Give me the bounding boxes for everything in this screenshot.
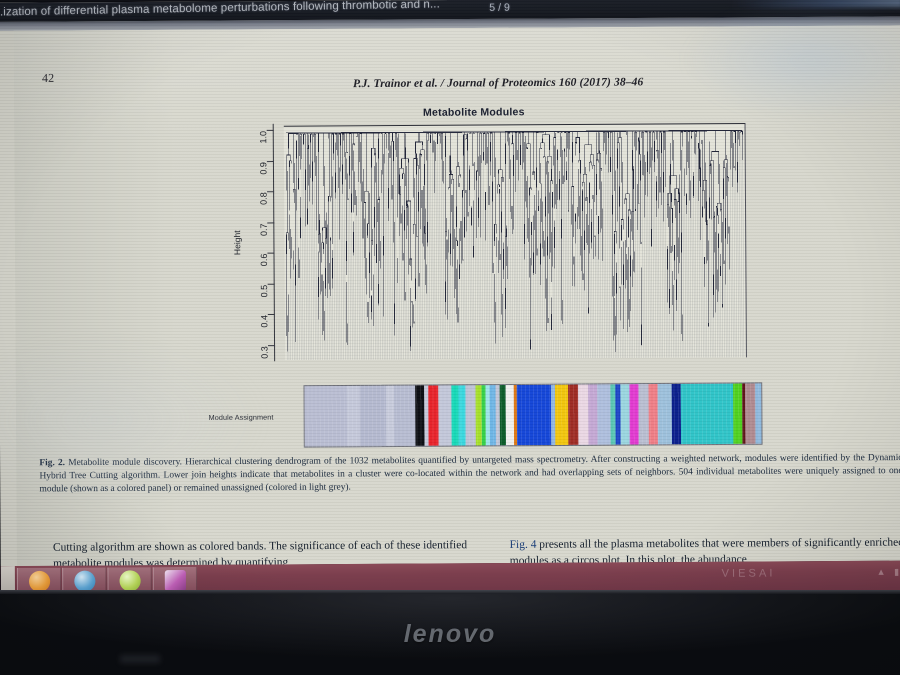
dendrogram-branches [286,130,744,354]
dendrogram-leaf-hairlines [286,133,744,360]
app-icon-1 [28,570,49,591]
y-tick-label: 1.0 [259,131,269,144]
chart-title: Metabolite Modules [423,106,525,119]
y-tick: 0.5 [268,283,275,284]
y-axis-title: Height [232,230,242,255]
screen-watermark: VIESAI [722,567,776,579]
y-tick: 1.0 [267,130,274,131]
y-tick-label: 0.9 [259,162,269,175]
module-band-segment [347,386,360,446]
dendrogram-svg [284,124,746,360]
module-assignment-band [303,382,762,447]
pdf-viewer-window: ...ization of differential plasma metabo… [0,0,900,566]
y-tick-label: 0.5 [260,285,270,298]
y-tick-label: 0.8 [259,192,269,205]
module-band-segment [597,384,611,444]
module-band-segment [555,385,568,445]
module-band-segment [428,385,439,445]
module-band-segment [755,383,761,443]
module-band-segment [649,384,658,444]
caption-text: Fig. 2. Metabolite module discovery. Hie… [39,453,900,495]
figure-2: Metabolite Modules Height 0.30.40.50.60.… [14,25,900,453]
pdf-page: 42 P.J. Trainor et al. / Journal of Prot… [14,25,900,566]
laptop-brand-logo: lenovo [404,620,497,649]
y-tick: 0.9 [267,161,274,162]
deck-reflection [120,655,160,663]
screen-glare [732,0,900,8]
page-surface: 42 P.J. Trainor et al. / Journal of Prot… [14,25,900,566]
module-band-segment [360,386,386,447]
module-band-segment [588,384,597,444]
module-band-segment [733,384,742,444]
screen-bottom-edge [0,590,900,594]
y-tick: 0.3 [268,345,275,346]
y-tick: 0.7 [267,222,274,223]
system-tray[interactable]: ▲ ▮ [877,567,900,578]
module-band-segment [438,385,451,445]
plot-area [284,123,747,360]
module-band-segment [304,386,347,447]
module-band-segment [394,386,415,446]
app-icon-4 [164,570,185,591]
body-column-left: Cutting algorithm are shown as colored b… [53,537,491,566]
page-indicator: 5 / 9 [489,2,510,14]
app-icon-3 [119,570,140,591]
y-tick-label: 0.7 [259,223,269,236]
module-band-segment [568,385,579,445]
figure-caption: Fig. 2. Metabolite module discovery. Hie… [39,452,900,497]
module-band-segment [680,384,734,445]
y-tick-label: 0.3 [260,346,270,359]
y-tick: 0.6 [267,253,274,254]
module-band-segment [505,385,514,445]
module-band-segment [516,385,551,446]
module-band-segment [629,384,638,444]
y-tick: 0.8 [267,191,274,192]
module-band-segment [578,384,588,444]
module-band-segment [415,385,425,445]
body-left-text: Cutting algorithm are shown as colored b… [53,539,467,566]
app-icon-2 [74,570,95,591]
module-band-segment [638,384,649,444]
laptop-screen-photo: ...ization of differential plasma metabo… [0,0,900,675]
module-band-segment [620,384,629,444]
module-band-segment [657,384,672,444]
dendrogram-plot: Height 0.30.40.50.60.70.80.91.0 [284,123,748,359]
module-band-segment [745,383,755,443]
document-title: ...ization of differential plasma metabo… [0,0,440,19]
y-tick-label: 0.6 [259,254,269,267]
module-band-segment [465,385,476,445]
y-tick: 0.4 [268,314,275,315]
figure-4-reference[interactable]: Fig. 4 [510,539,537,551]
module-assignment-label: Module Assignment [209,413,274,422]
y-tick-label: 0.4 [260,315,270,328]
